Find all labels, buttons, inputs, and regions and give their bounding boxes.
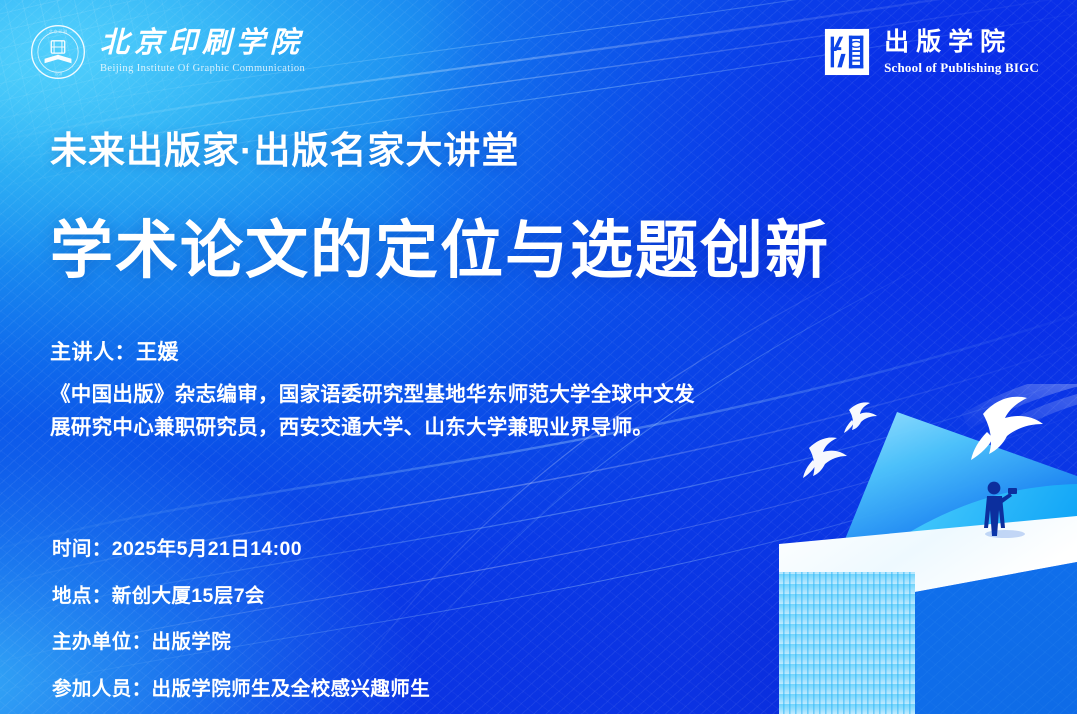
speaker-bio: 《中国出版》杂志编审，国家语委研究型基地华东师范大学全球中文发 展研究中心兼职研… [50, 378, 820, 444]
event-audience: 参加人员：出版学院师生及全校感兴趣师生 [52, 680, 430, 700]
speaker-bio-line-2: 展研究中心兼职研究员，西安交通大学、山东大学兼职业界导师。 [50, 411, 820, 444]
event-time: 时间：2025年5月21日14:00 [52, 540, 430, 560]
school-name-cn: 出版学院 [884, 30, 1039, 55]
university-name-cn: 北京印刷学院 [100, 29, 305, 58]
speaker-name: 主讲人：王媛 [50, 336, 950, 366]
poster-main-content: 未来出版家·出版名家大讲堂 学术论文的定位与选题创新 主讲人：王媛 《中国出版》… [50, 130, 950, 444]
poster-header: 北 京 印 刷 1958 北京印刷学院 Beijing Institute Of… [0, 0, 1077, 104]
school-of-publishing-square-mark-icon [823, 27, 871, 77]
event-place: 地点：新创大厦15层7会 [52, 587, 430, 607]
lecture-poster: 北 京 印 刷 1958 北京印刷学院 Beijing Institute Of… [0, 0, 1077, 714]
event-details: 时间：2025年5月21日14:00 地点：新创大厦15层7会 主办单位：出版学… [52, 540, 430, 699]
lecture-title: 学术论文的定位与选题创新 [50, 217, 950, 286]
bigc-circular-seal-icon: 北 京 印 刷 1958 [30, 24, 86, 80]
university-brand: 北 京 印 刷 1958 北京印刷学院 Beijing Institute Of… [30, 24, 305, 80]
svg-text:北 京 印 刷: 北 京 印 刷 [49, 29, 68, 34]
event-organizer: 主办单位：出版学院 [52, 633, 430, 653]
speaker-bio-line-1: 《中国出版》杂志编审，国家语委研究型基地华东师范大学全球中文发 [50, 378, 820, 411]
university-name-en: Beijing Institute Of Graphic Communicati… [100, 64, 305, 75]
series-kicker: 未来出版家·出版名家大讲堂 [50, 130, 950, 173]
svg-text:1958: 1958 [54, 73, 62, 77]
school-name-en: School of Publishing BIGC [884, 61, 1039, 74]
school-brand: 出版学院 School of Publishing BIGC [823, 27, 1039, 77]
